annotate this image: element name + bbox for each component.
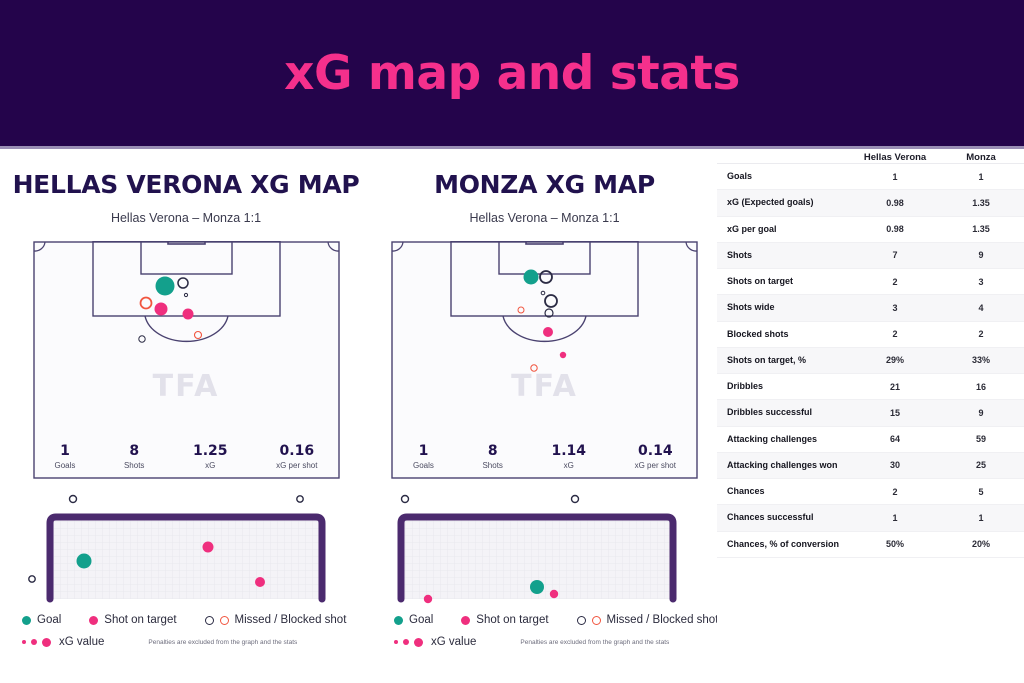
table-row: Chances, % of conversion50%20% (717, 531, 1024, 557)
table-row: Blocked shots22 (717, 321, 1024, 347)
xg-size-scale-icon (394, 638, 423, 647)
stat-label: Chances (717, 479, 852, 505)
stat-value-home: 1 (852, 164, 938, 190)
shot-marker-shot_on_target (182, 309, 193, 320)
xg-size-scale-icon (22, 638, 51, 647)
shot-marker-shot_on_target (560, 352, 566, 358)
stat-label: xG (Expected goals) (717, 190, 852, 216)
stat-value-home: 15 (852, 400, 938, 426)
stat-label: Shots wide (717, 295, 852, 321)
xg-map-panel-away: MONZA XG MAP Hellas Verona – Monza 1:1 T… (372, 152, 717, 607)
table-row: Attacking challenges6459 (717, 426, 1024, 452)
shot-marker-shot_on_target (203, 542, 214, 553)
table-row: xG per goal0.981.35 (717, 216, 1024, 242)
stat-label: Attacking challenges (717, 426, 852, 452)
table-row: Goals11 (717, 164, 1024, 190)
map-title-home: HELLAS VERONA XG MAP (0, 170, 372, 199)
page-root: xG map and stats HELLAS VERONA XG MAP He… (0, 0, 1024, 683)
stat-value-home: 0.98 (852, 216, 938, 242)
banner-divider (0, 146, 1024, 149)
legend-home: Goal Shot on target Missed / Blocked sho… (0, 614, 372, 648)
shot-marker-goal (77, 554, 92, 569)
stat-label: Dribbles (717, 374, 852, 400)
map-title-away: MONZA XG MAP (372, 170, 717, 199)
stat-label: Goals (717, 164, 852, 190)
stat-label: Shots (717, 242, 852, 268)
stat-label: Chances successful (717, 505, 852, 531)
pitch-svg-away (391, 241, 698, 479)
legend-label-sot: Shot on target (476, 614, 548, 626)
stat-label: Blocked shots (717, 321, 852, 347)
stat-value-away: 2 (938, 321, 1024, 347)
stat-value-away: 1 (938, 164, 1024, 190)
stat-label: xG per goal (717, 216, 852, 242)
goal-dot-icon (394, 616, 403, 625)
xg-map-panel-home: HELLAS VERONA XG MAP Hellas Verona – Mon… (0, 152, 372, 607)
stats-table: Hellas Verona Monza Goals11xG (Expected … (717, 152, 1024, 558)
stats-header-blank (717, 152, 852, 164)
stat-value-home: 2 (852, 269, 938, 295)
pitch-svg-home (33, 241, 340, 479)
table-row: Attacking challenges won3025 (717, 452, 1024, 478)
stat-value-away: 59 (938, 426, 1024, 452)
stat-value-away: 1 (938, 505, 1024, 531)
shot-on-target-dot-icon (89, 616, 98, 625)
page-banner: xG map and stats (0, 0, 1024, 146)
stat-value-away: 1.35 (938, 216, 1024, 242)
legend-item-shot-on-target-away: Shot on target (461, 614, 548, 626)
shot-marker-shot_on_target (154, 303, 167, 316)
legend-item-goal-home: Goal (22, 614, 61, 626)
stat-value-home: 0.98 (852, 190, 938, 216)
legend-label-goal: Goal (409, 614, 433, 626)
stat-value-away: 4 (938, 295, 1024, 321)
stats-header-away: Monza (938, 152, 1024, 164)
stats-header-home: Hellas Verona (852, 152, 938, 164)
shot-marker-missed_outside (70, 496, 77, 503)
goal-mouth-diagram-away (385, 487, 705, 607)
legend-row-primary-home: Goal Shot on target Missed / Blocked sho… (0, 614, 372, 626)
table-row: Chances successful11 (717, 505, 1024, 531)
stat-value-home: 64 (852, 426, 938, 452)
legend-note-penalties: Penalties are excluded from the graph an… (148, 639, 297, 646)
table-row: Chances25 (717, 479, 1024, 505)
blocked-ring-icon (592, 616, 601, 625)
shot-marker-missed_outside (297, 496, 303, 502)
legend-row-primary-away: Goal Shot on target Missed / Blocked sho… (372, 614, 717, 626)
shot-marker-shot_on_target (255, 577, 265, 587)
shot-marker-missed_outside (401, 496, 408, 503)
stat-value-home: 2 (852, 479, 938, 505)
legend-label-missed: Missed / Blocked shot (235, 614, 347, 626)
stat-value-home: 29% (852, 347, 938, 373)
pitch-diagram-home: TFA 1 Goals 8 Shots 1.25 xG 0.16 xG per … (33, 241, 340, 479)
shot-marker-goal (155, 277, 174, 296)
legend-item-missed-blocked-home: Missed / Blocked shot (205, 614, 347, 626)
stat-label: Dribbles successful (717, 400, 852, 426)
legend-away: Goal Shot on target Missed / Blocked sho… (372, 614, 717, 648)
stat-value-away: 3 (938, 269, 1024, 295)
shot-marker-missed_outside (571, 496, 578, 503)
map-subtitle-away: Hellas Verona – Monza 1:1 (372, 211, 717, 225)
goal-svg-away (385, 487, 705, 607)
stat-value-home: 3 (852, 295, 938, 321)
shot-marker-shot_on_target (549, 590, 557, 598)
stat-value-home: 50% (852, 531, 938, 557)
legend-label-xg-value: xG value (431, 636, 476, 648)
goal-svg-home (26, 487, 346, 607)
map-subtitle-home: Hellas Verona – Monza 1:1 (0, 211, 372, 225)
shot-marker-shot_on_target (423, 595, 431, 603)
table-row: Shots wide34 (717, 295, 1024, 321)
stat-value-home: 21 (852, 374, 938, 400)
shot-marker-shot_on_target (543, 327, 553, 337)
shot-marker-goal (524, 270, 539, 285)
legend-item-missed-blocked-away: Missed / Blocked shot (577, 614, 719, 626)
stats-table-body: Goals11xG (Expected goals)0.981.35xG per… (717, 164, 1024, 558)
stat-value-away: 9 (938, 400, 1024, 426)
stat-value-away: 9 (938, 242, 1024, 268)
shot-marker-goal (530, 580, 544, 594)
stat-label: Shots on target (717, 269, 852, 295)
stat-label: Chances, % of conversion (717, 531, 852, 557)
legend-label-missed: Missed / Blocked shot (607, 614, 719, 626)
legend-label-xg-value: xG value (59, 636, 104, 648)
table-row: Dribbles successful159 (717, 400, 1024, 426)
pitch-diagram-away: TFA 1 Goals 8 Shots 1.14 xG 0.14 xG per … (391, 241, 698, 479)
goal-mouth-diagram-home (26, 487, 346, 607)
goal-dot-icon (22, 616, 31, 625)
table-row: Shots79 (717, 242, 1024, 268)
stat-value-away: 5 (938, 479, 1024, 505)
table-row: Dribbles2116 (717, 374, 1024, 400)
missed-ring-icon (577, 616, 586, 625)
stat-value-away: 20% (938, 531, 1024, 557)
stats-table-header-row: Hellas Verona Monza (717, 152, 1024, 164)
stat-value-home: 2 (852, 321, 938, 347)
stat-value-home: 7 (852, 242, 938, 268)
blocked-ring-icon (220, 616, 229, 625)
stat-value-away: 33% (938, 347, 1024, 373)
stat-label: Shots on target, % (717, 347, 852, 373)
stat-value-home: 1 (852, 505, 938, 531)
legend-row-secondary-home: xG value Penalties are excluded from the… (0, 636, 372, 648)
legend-item-shot-on-target-home: Shot on target (89, 614, 176, 626)
table-row: Shots on target, %29%33% (717, 347, 1024, 373)
stat-label: Attacking challenges won (717, 452, 852, 478)
legend-row-secondary-away: xG value Penalties are excluded from the… (372, 636, 717, 648)
legend-label-sot: Shot on target (104, 614, 176, 626)
legend-note-penalties: Penalties are excluded from the graph an… (520, 639, 669, 646)
page-title: xG map and stats (284, 46, 740, 101)
legend-item-goal-away: Goal (394, 614, 433, 626)
stat-value-away: 25 (938, 452, 1024, 478)
stat-value-away: 16 (938, 374, 1024, 400)
missed-ring-icon (205, 616, 214, 625)
table-row: xG (Expected goals)0.981.35 (717, 190, 1024, 216)
stats-table-panel: Hellas Verona Monza Goals11xG (Expected … (717, 152, 1024, 683)
shot-on-target-dot-icon (461, 616, 470, 625)
legend-label-goal: Goal (37, 614, 61, 626)
shot-marker-missed_outside (29, 576, 35, 582)
stat-value-away: 1.35 (938, 190, 1024, 216)
table-row: Shots on target23 (717, 269, 1024, 295)
stat-value-home: 30 (852, 452, 938, 478)
